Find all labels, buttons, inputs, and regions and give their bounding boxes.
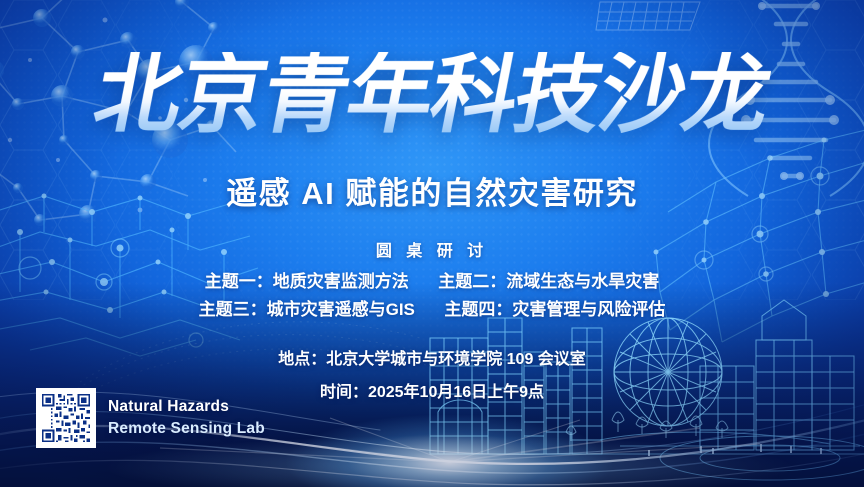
topic-item-2: 主题二：流域生态与水旱灾害 — [438, 272, 659, 291]
topic-row-1: 主题一：地质灾害监测方法 主题二：流域生态与水旱灾害 — [0, 267, 864, 292]
poster-canvas: 北京青年科技沙龙 遥感 AI 赋能的自然灾害研究 圆 桌 研 讨 主题一：地质灾… — [0, 0, 864, 487]
session-label: 圆 桌 研 讨 — [0, 237, 864, 261]
poster-subtitle: 遥感 AI 赋能的自然灾害研究 — [0, 168, 864, 213]
qr-code-icon[interactable] — [36, 388, 96, 448]
topic-item-1: 主题一：地质灾害监测方法 — [205, 272, 409, 291]
poster-content: 北京青年科技沙龙 遥感 AI 赋能的自然灾害研究 圆 桌 研 讨 主题一：地质灾… — [0, 0, 864, 487]
lab-name-line2: Remote Sensing Lab — [108, 418, 265, 440]
lab-name: Natural Hazards Remote Sensing Lab — [108, 396, 265, 440]
page-title: 北京青年科技沙龙 — [0, 52, 864, 138]
topic-row-2: 主题三：城市灾害遥感与GIS 主题四：灾害管理与风险评估 — [0, 295, 864, 320]
lab-badge: Natural Hazards Remote Sensing Lab — [36, 388, 265, 448]
lab-name-line1: Natural Hazards — [108, 396, 265, 418]
topic-item-4: 主题四：灾害管理与风险评估 — [444, 300, 665, 319]
venue-line: 地点：北京大学城市与环境学院 109 会议室 — [0, 345, 864, 369]
topic-item-3: 主题三：城市灾害遥感与GIS — [199, 300, 415, 319]
